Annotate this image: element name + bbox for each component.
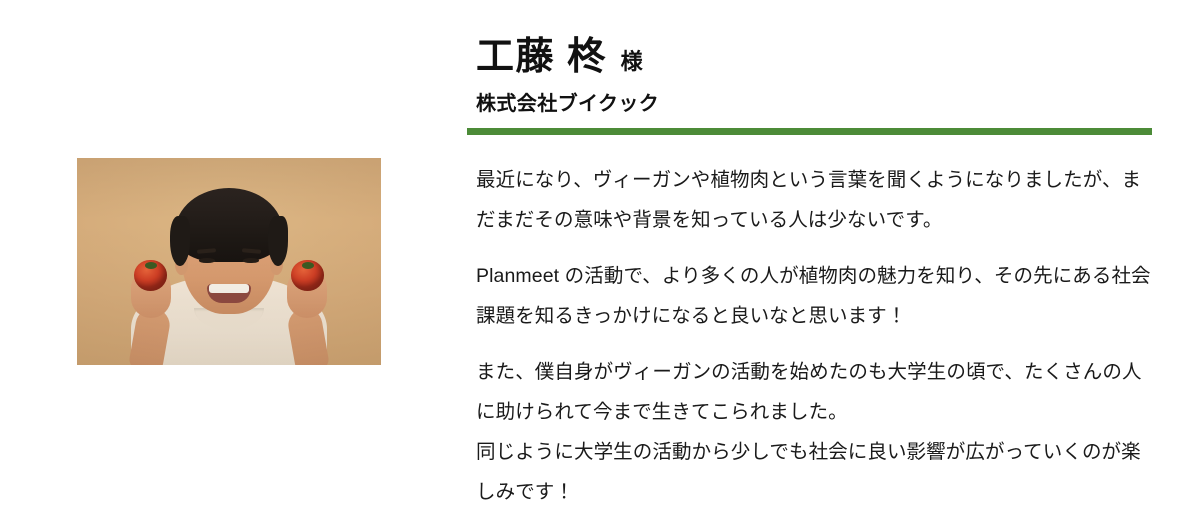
quote-body: 最近になり、ヴィーガンや植物肉という言葉を聞くようになりましたが、まだまだその意… [476,160,1152,512]
testimonial-card: 工藤 柊様 株式会社ブイクック 最近になり、ヴィーガンや植物肉という言葉を聞くよ… [0,0,1200,499]
portrait-photo-container [77,158,381,365]
quote-paragraph: 最近になり、ヴィーガンや植物肉という言葉を聞くようになりましたが、まだまだその意… [476,160,1152,240]
quote-paragraph: また、僕自身がヴィーガンの活動を始めたのも大学生の頃で、たくさんの人に助けられて… [476,352,1152,512]
company-name: 株式会社ブイクック [476,92,659,116]
testimonial-content: 工藤 柊様 株式会社ブイクック 最近になり、ヴィーガンや植物肉という言葉を聞くよ… [467,0,1157,499]
person-name-text: 工藤 柊 [476,36,607,78]
photo-vignette [77,158,381,365]
quote-paragraph: Planmeet の活動で、より多くの人が植物肉の魅力を知り、その先にある社会課… [476,256,1152,336]
person-name: 工藤 柊様 [476,38,643,76]
person-honorific: 様 [621,49,643,74]
green-divider [467,128,1152,135]
portrait-photo [77,158,381,365]
